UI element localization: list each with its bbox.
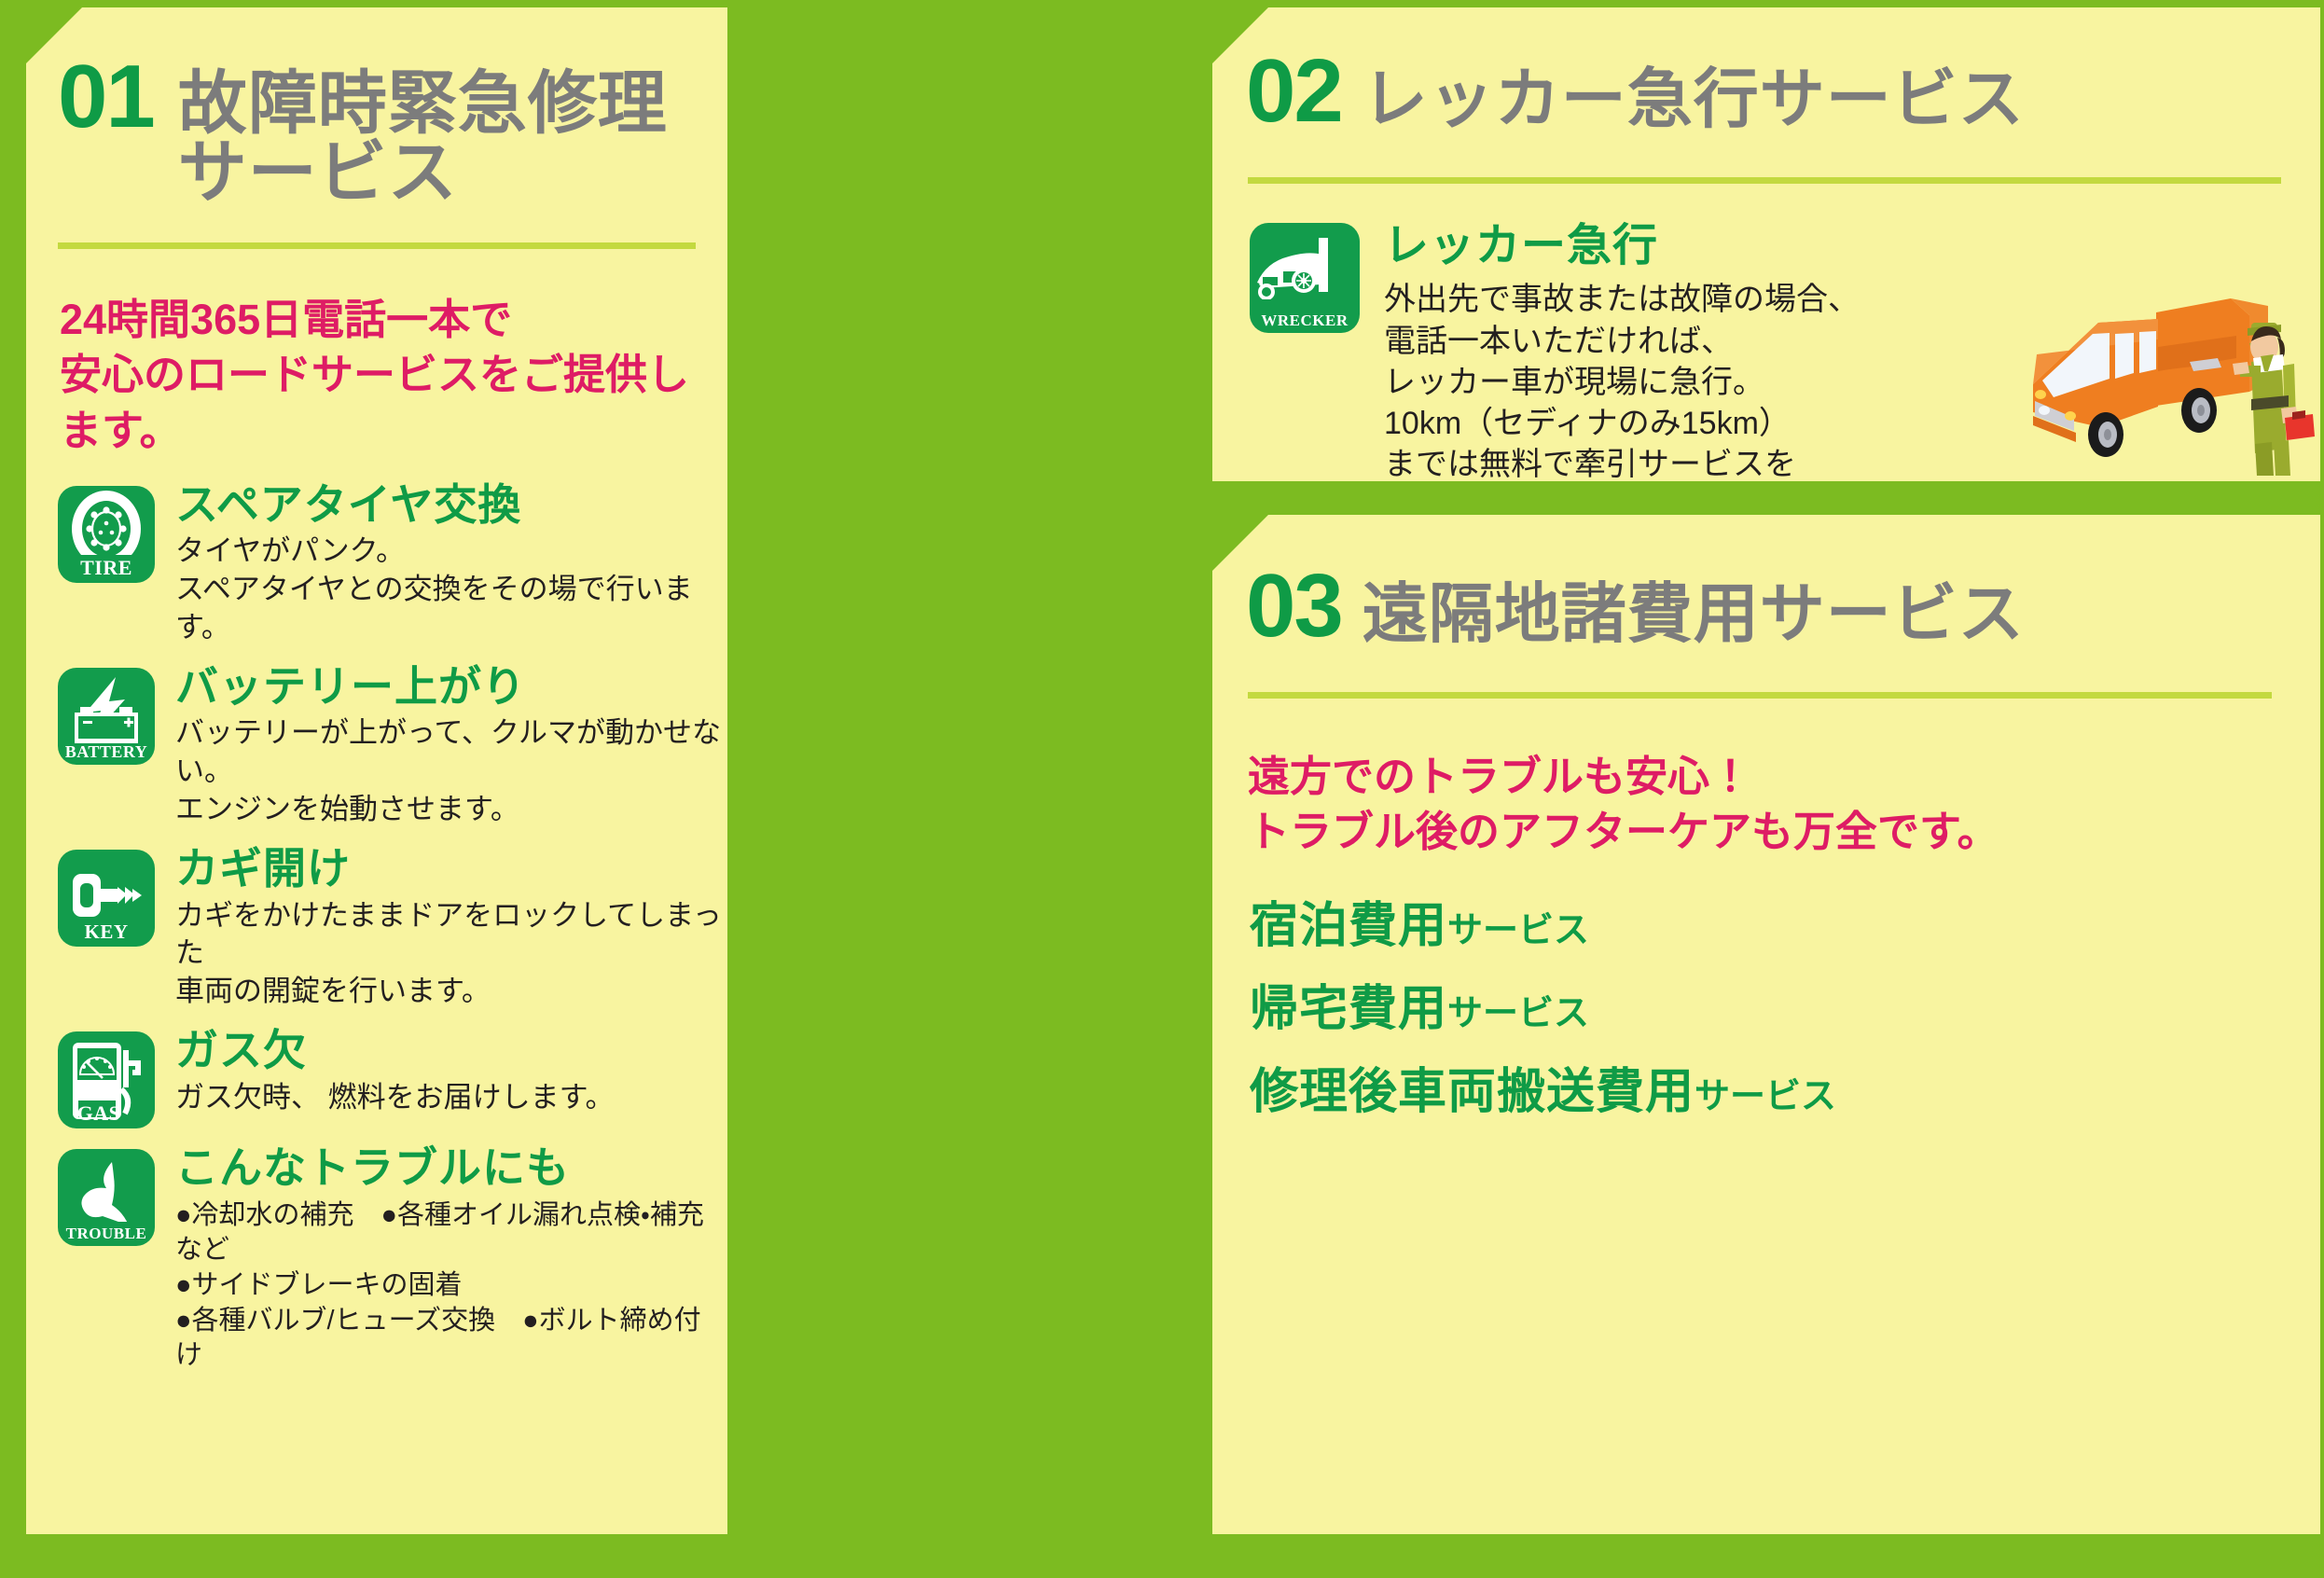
service-text-spare-tire: スペアタイヤ交換 タイヤがパンク。 スペアタイヤとの交換をその場で行います。 — [175, 482, 727, 647]
service-title-spare-tire: スペアタイヤ交換 — [175, 482, 727, 527]
infographic-page: 01 故障時緊急修理サービス 24時間365日電話一本で 安心のロードサービスを… — [0, 0, 2324, 1578]
service-title-other-trouble: こんなトラブルにも — [175, 1145, 727, 1190]
service-desc-spare-tire: タイヤがパンク。 スペアタイヤとの交換をその場で行います。 — [175, 533, 727, 647]
battery-icon: BATTERY — [58, 668, 155, 765]
card-02-title: レッカー急行サービス — [1363, 66, 2025, 131]
key-icon: KEY — [58, 850, 155, 947]
service-text-key-unlock: カギ開け カギをかけたままドアをロックしてしまった 車両の開錠を行います。 — [175, 846, 727, 1011]
service-row-key-unlock: KEY カギ開け カギをかけたままドアをロックしてしまった 車両の開錠を行います… — [58, 846, 727, 1011]
card-03-title: 遠隔地諸費用サービス — [1363, 581, 2025, 646]
fee-item-lodging-suffix: サービス — [1447, 911, 1589, 950]
tire-icon: TIRE — [58, 486, 155, 583]
card-03-number: 03 — [1246, 561, 1342, 651]
service-text-out-of-gas: ガス欠 ガス欠時、 燃料をお届けします。 — [175, 1028, 615, 1116]
battery-icon-caption: BATTERY — [58, 743, 155, 760]
service-title-key-unlock: カギ開け — [175, 846, 727, 891]
card-03-header: 03 遠隔地諸費用サービス — [1246, 561, 2320, 651]
card-01-divider — [58, 242, 696, 249]
card-03-divider — [1248, 692, 2272, 699]
card-02-header: 02 レッカー急行サービス — [1246, 47, 2320, 136]
service-desc-out-of-gas: ガス欠時、 燃料をお届けします。 — [175, 1079, 615, 1117]
tow-truck-with-worker-illustration — [2016, 261, 2315, 476]
service-card-02: 02 レッカー急行サービス — [1212, 7, 2320, 481]
service-desc-battery: バッテリーが上がって、クルマが動かせない。 エンジンを始動させます。 — [175, 714, 727, 829]
tire-icon-caption: TIRE — [58, 558, 155, 578]
fee-item-return-home: 帰宅費用サービス — [1250, 969, 2320, 1039]
gas-pump-icon-caption: GAS — [58, 1103, 155, 1124]
card-01-title: 故障時緊急修理サービス — [178, 69, 727, 207]
service-title-out-of-gas: ガス欠 — [175, 1028, 615, 1073]
card-02-divider — [1248, 177, 2281, 184]
wrecker-feature-desc: 外出先で事故または故障の場合、 電話一本いただければ、 レッカー車が現場に急行。… — [1384, 279, 1860, 526]
card-01-header: 01 故障時緊急修理サービス — [58, 52, 727, 207]
card-03-lead-copy: 遠方でのトラブルも安心！ トラブル後のアフターケアも万全です。 — [1248, 749, 2320, 860]
service-desc-key-unlock: カギをかけたままドアをロックしてしまった 車両の開錠を行います。 — [175, 897, 727, 1012]
service-title-battery: バッテリー上がり — [175, 664, 727, 709]
gas-pump-icon: GAS — [58, 1031, 155, 1128]
service-text-battery: バッテリー上がり バッテリーが上がって、クルマが動かせない。 エンジンを始動させ… — [175, 664, 727, 829]
fee-item-vehicle-transport: 修理後車両搬送費用サービス — [1250, 1052, 2320, 1122]
fee-item-vehicle-transport-label: 修理後車両搬送費用 — [1250, 1065, 1695, 1119]
card-03-fee-list: 宿泊費用サービス 帰宅費用サービス 修理後車両搬送費用サービス — [1250, 886, 2320, 1122]
card-01-service-list: TIRE スペアタイヤ交換 タイヤがパンク。 スペアタイヤとの交換をその場で行い… — [58, 482, 727, 1374]
wrecker-icon-caption: WRECKER — [1250, 312, 1360, 328]
service-text-other-trouble: こんなトラブルにも ●冷却水の補充 ●各種オイル漏れ点検・補充など ●サイドブレ… — [175, 1145, 727, 1374]
card-01-number: 01 — [58, 52, 154, 142]
service-row-battery: BATTERY バッテリー上がり バッテリーが上がって、クルマが動かせない。 エ… — [58, 664, 727, 829]
wrecker-feature-text: レッカー急行 外出先で事故または故障の場合、 電話一本いただければ、 レッカー車… — [1384, 223, 1860, 527]
service-desc-other-trouble: ●冷却水の補充 ●各種オイル漏れ点検・補充など ●サイドブレーキの固着 ●各種バ… — [175, 1198, 727, 1374]
fee-item-lodging: 宿泊費用サービス — [1250, 886, 2320, 956]
fee-item-return-home-label: 帰宅費用 — [1250, 982, 1447, 1036]
service-card-03: 03 遠隔地諸費用サービス 遠方でのトラブルも安心！ トラブル後のアフターケアも… — [1212, 515, 2320, 1534]
card-01-lead-copy: 24時間365日電話一本で 安心のロードサービスをご提供します。 — [60, 292, 727, 458]
fee-item-vehicle-transport-suffix: サービス — [1695, 1077, 1836, 1116]
service-row-out-of-gas: GAS ガス欠 ガス欠時、 燃料をお届けします。 — [58, 1028, 727, 1128]
wrench-icon-caption: TROUBLE — [58, 1225, 155, 1241]
wrecker-icon: WRECKER — [1250, 223, 1360, 333]
wrecker-feature-title: レッカー急行 — [1384, 223, 1860, 270]
service-card-01: 01 故障時緊急修理サービス 24時間365日電話一本で 安心のロードサービスを… — [26, 7, 727, 1534]
fee-item-lodging-label: 宿泊費用 — [1250, 899, 1447, 953]
fee-item-return-home-suffix: サービス — [1447, 994, 1589, 1033]
service-row-other-trouble: TROUBLE こんなトラブルにも ●冷却水の補充 ●各種オイル漏れ点検・補充な… — [58, 1145, 727, 1374]
key-icon-caption: KEY — [58, 922, 155, 942]
wrench-icon: TROUBLE — [58, 1149, 155, 1246]
card-02-number: 02 — [1246, 47, 1342, 136]
service-row-spare-tire: TIRE スペアタイヤ交換 タイヤがパンク。 スペアタイヤとの交換をその場で行い… — [58, 482, 727, 647]
